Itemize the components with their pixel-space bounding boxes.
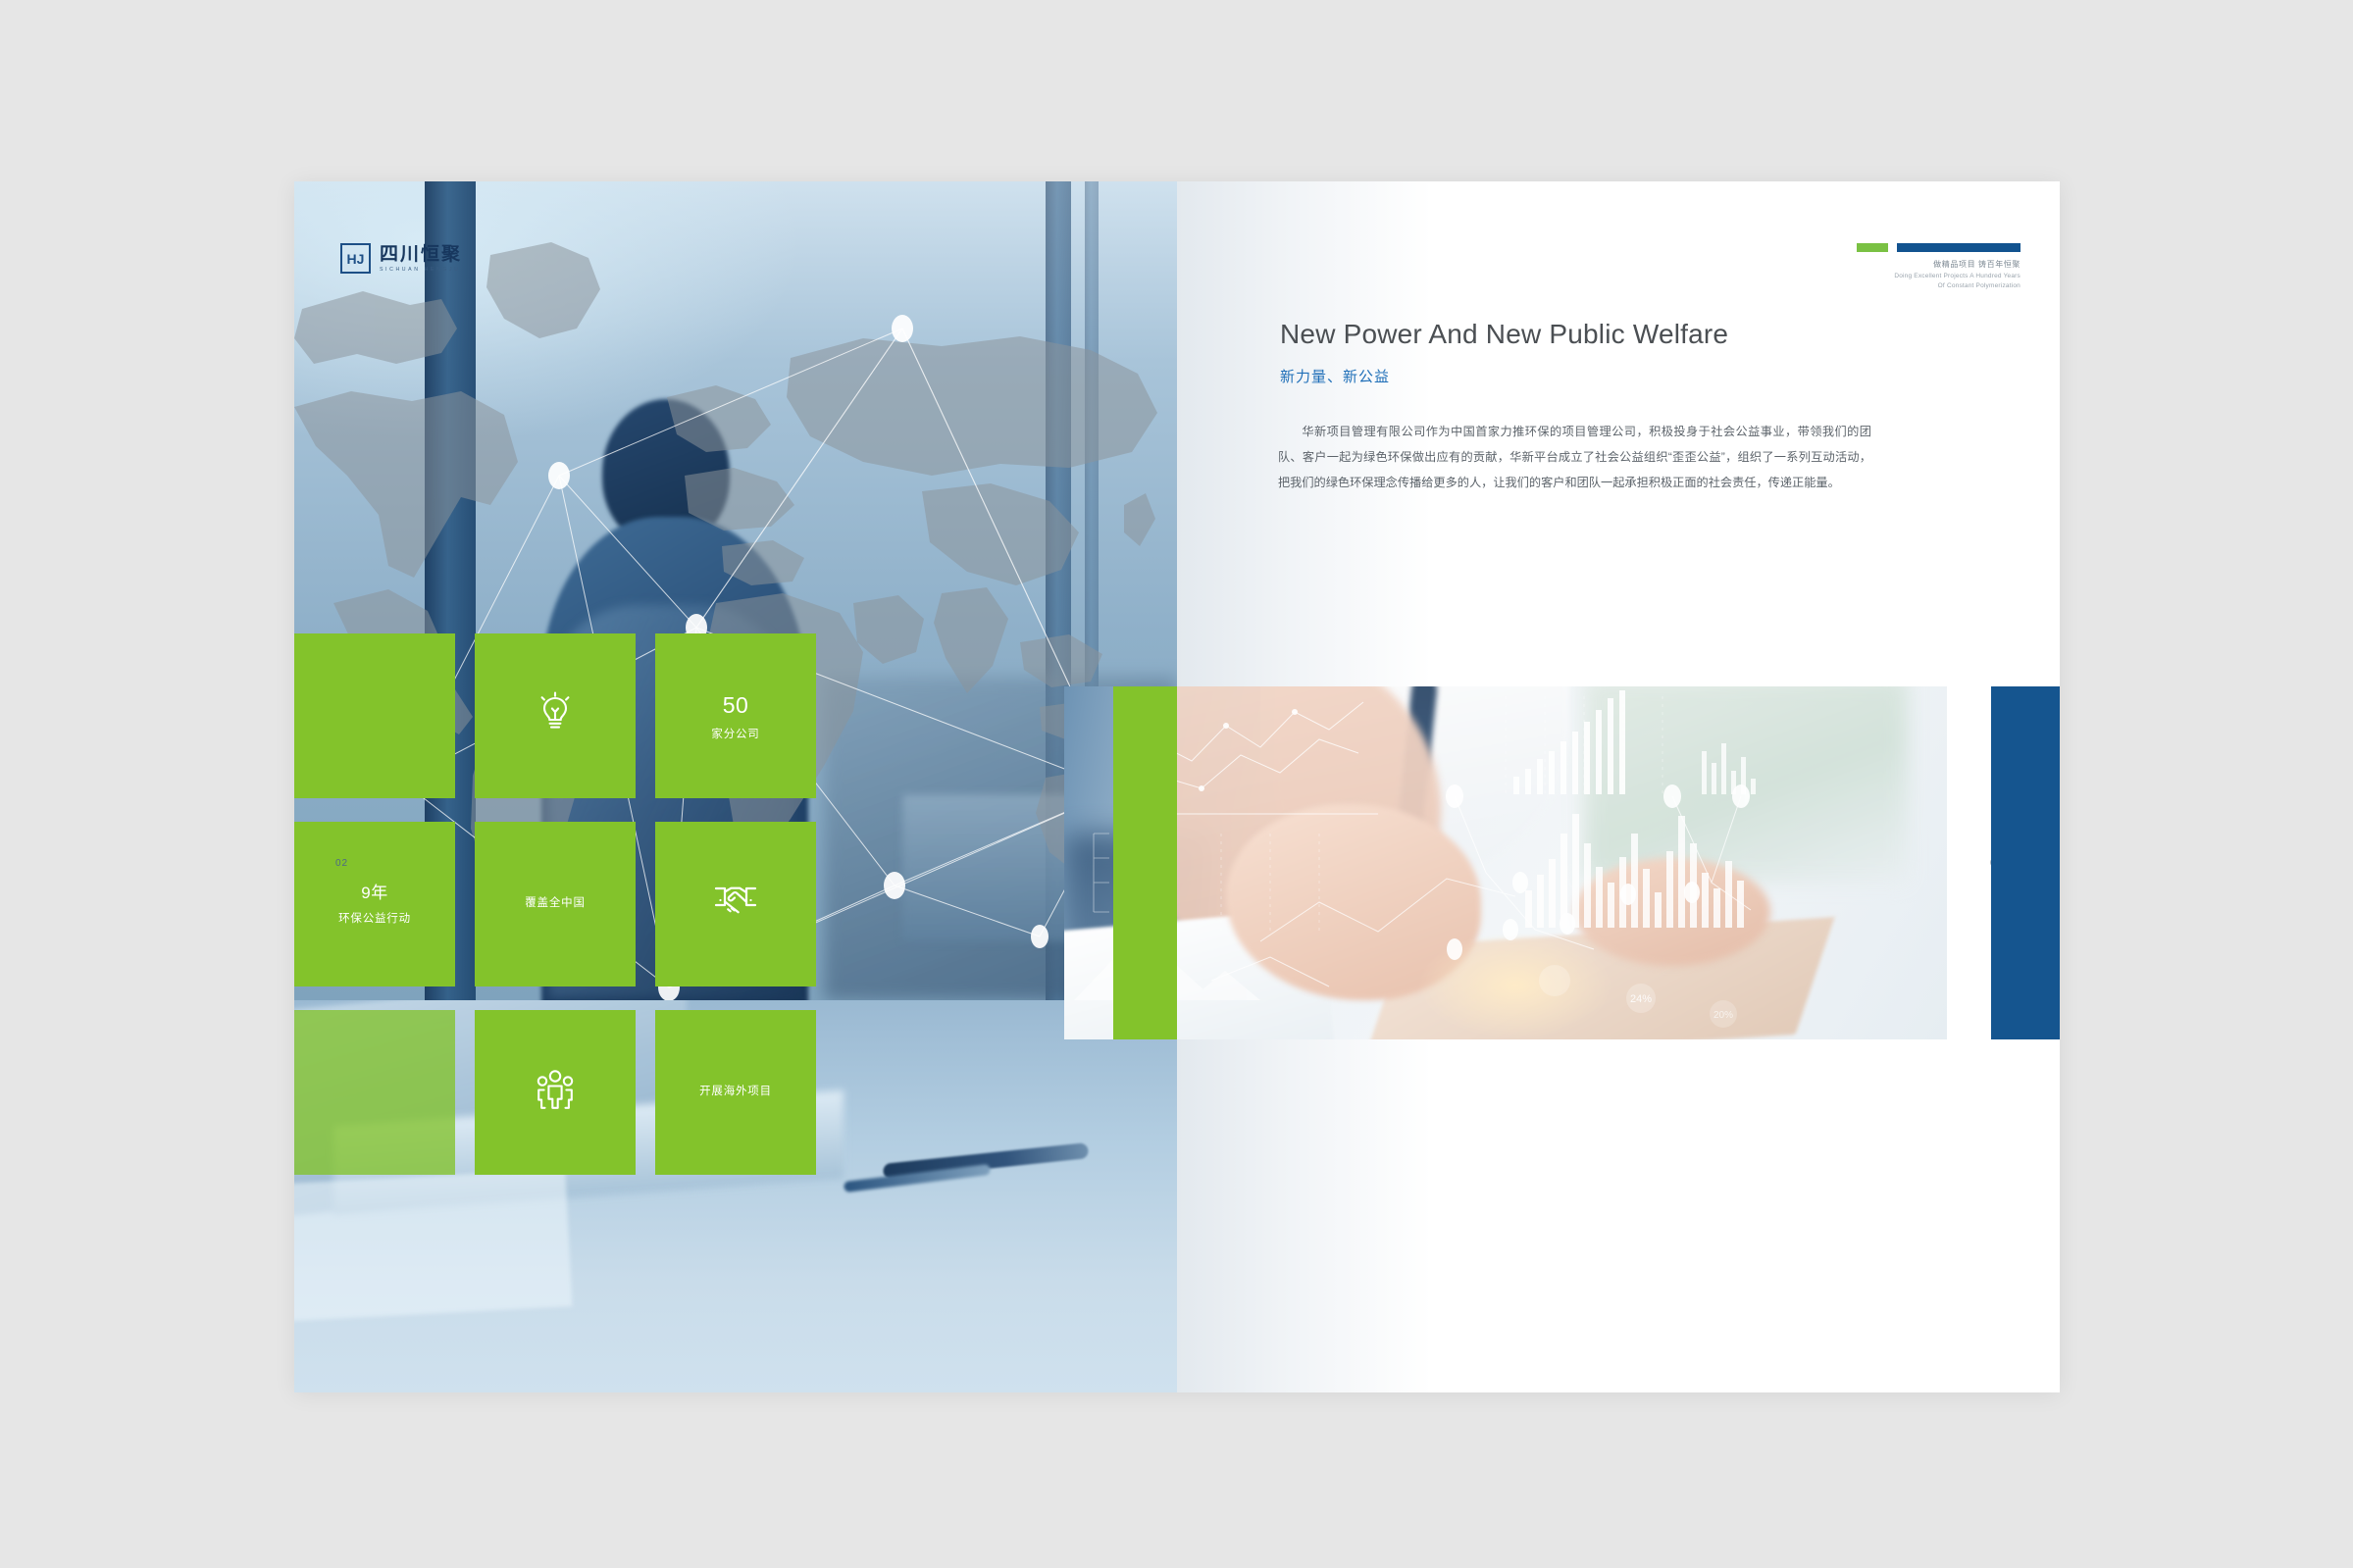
- tile-lightbulb[interactable]: [475, 633, 636, 798]
- tile-text-coverage[interactable]: 覆盖全中国: [475, 822, 636, 986]
- page-title: New Power And New Public Welfare: [1280, 319, 1728, 350]
- blue-accent-band: [1991, 686, 2060, 1039]
- tile-caption: 覆盖全中国: [525, 895, 586, 912]
- header-bar-green: [1857, 243, 1888, 252]
- page-subtitle: 新力量、新公益: [1280, 366, 1390, 386]
- tile-stat-years[interactable]: 9年 环保公益行动: [294, 822, 455, 986]
- hands-tablet-photo: 24% 20%: [1064, 686, 1947, 1039]
- header-tagline-cn: 做精品项目 铸百年恒聚: [1852, 259, 2021, 270]
- header-bars: [1852, 243, 2021, 252]
- paper-blur: [294, 1169, 572, 1322]
- tile-stat-number: 9年: [361, 881, 387, 906]
- green-divider-band: [1113, 686, 1177, 1039]
- lightbulb-icon: [530, 686, 581, 745]
- logo-name-en: SICHUAN HENGJU: [380, 267, 462, 273]
- tile-caption: 开展海外项目: [699, 1084, 772, 1100]
- poster-canvas: HJ 四川恒聚 SICHUAN HENGJU: [0, 0, 2353, 1568]
- tile-handshake[interactable]: [655, 822, 816, 986]
- header-mark: 做精品项目 铸百年恒聚 Doing Excellent Projects A H…: [1852, 243, 2021, 291]
- tile-blank-2[interactable]: [294, 1010, 455, 1175]
- left-page: HJ 四川恒聚 SICHUAN HENGJU: [294, 181, 1177, 1392]
- company-logo: HJ 四川恒聚 SICHUAN HENGJU: [340, 243, 462, 274]
- tile-text-overseas[interactable]: 开展海外项目: [655, 1010, 816, 1175]
- handshake-icon: [710, 875, 761, 934]
- header-bar-blue: [1897, 243, 2021, 252]
- header-tagline-en-2: Of Constant Polymerization: [1852, 281, 2021, 291]
- brochure-spread: HJ 四川恒聚 SICHUAN HENGJU: [294, 181, 2060, 1392]
- svg-text:24%: 24%: [1630, 993, 1652, 1005]
- tile-blank-1[interactable]: [294, 633, 455, 798]
- tile-stat-branches[interactable]: 50 家分公司: [655, 633, 816, 798]
- tile-people-group[interactable]: [475, 1010, 636, 1175]
- people-group-icon: [530, 1063, 581, 1122]
- tile-stat-caption: 家分公司: [711, 727, 759, 743]
- body-paragraph: 华新项目管理有限公司作为中国首家力推环保的项目管理公司，积极投身于社会公益事业，…: [1278, 420, 1871, 496]
- logo-name-cn: 四川恒聚: [380, 245, 462, 264]
- stats-tile-grid: 50 家分公司 9年 环保公益行动 覆盖全中国: [294, 633, 1177, 1183]
- page-number-left: 02: [335, 858, 348, 869]
- logo-text: 四川恒聚 SICHUAN HENGJU: [380, 245, 462, 273]
- logo-mark-text: HJ: [347, 252, 365, 266]
- tile-stat-caption: 环保公益行动: [338, 911, 411, 928]
- tile-stat-number: 50: [723, 688, 749, 723]
- logo-mark-icon: HJ: [340, 243, 371, 274]
- svg-text:20%: 20%: [1714, 1010, 1733, 1021]
- header-tagline-en-1: Doing Excellent Projects A Hundred Years: [1852, 272, 2021, 281]
- data-visualization-overlay: 24% 20%: [1064, 686, 1947, 1039]
